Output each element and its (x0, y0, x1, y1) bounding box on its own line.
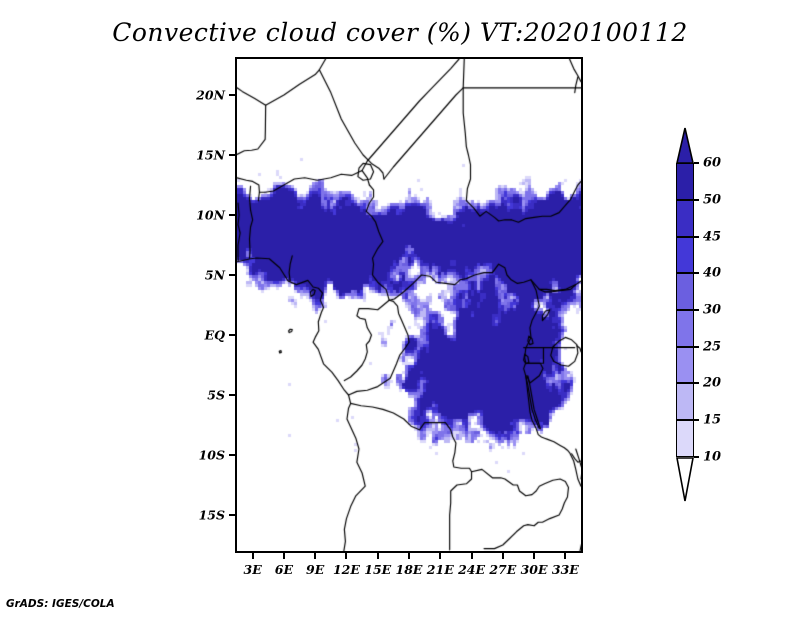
x-axis-tick (564, 553, 566, 559)
x-axis-tick (408, 553, 410, 559)
colorbar-over-arrow (676, 127, 694, 163)
x-axis-tick (471, 553, 473, 559)
x-axis-tick (439, 553, 441, 559)
x-axis-tick (502, 553, 504, 559)
colorbar-band (676, 163, 694, 200)
colorbar-band (676, 310, 694, 347)
colorbar-band (676, 420, 694, 457)
x-axis-tick (283, 553, 285, 559)
y-axis-tick (229, 514, 235, 516)
colorbar-label: 50 (703, 193, 721, 208)
colorbar-label: 60 (703, 156, 721, 171)
colorbar-band (676, 237, 694, 273)
convective-cloud-cover-map (237, 59, 581, 551)
colorbar-tick (694, 162, 699, 164)
y-axis-tick (229, 274, 235, 276)
x-axis-tick (377, 553, 379, 559)
map-plot-frame (235, 57, 583, 553)
x-axis-tick (345, 553, 347, 559)
colorbar: 605045403025201510 (676, 127, 694, 461)
x-axis-tick (252, 553, 254, 559)
y-axis-tick (229, 394, 235, 396)
x-axis-tick (533, 553, 535, 559)
y-axis-tick (229, 334, 235, 336)
y-axis-label: 5N (187, 268, 225, 283)
y-axis-label: 15N (187, 148, 225, 163)
x-axis-tick (314, 553, 316, 559)
colorbar-band (676, 273, 694, 310)
page-title: Convective cloud cover (%) VT:2020100112 (0, 18, 800, 47)
colorbar-band (676, 200, 694, 237)
y-axis-label: 10S (187, 448, 225, 463)
y-axis-tick (229, 94, 235, 96)
colorbar-tick (694, 309, 699, 311)
colorbar-label: 20 (703, 376, 721, 391)
colorbar-band (676, 383, 694, 420)
colorbar-tick (694, 382, 699, 384)
colorbar-label: 45 (703, 230, 721, 245)
footer-credit: GrADS: IGES/COLA (6, 598, 115, 610)
colorbar-label: 10 (703, 450, 721, 465)
colorbar-label: 15 (703, 413, 721, 428)
y-axis-label: 10N (187, 208, 225, 223)
colorbar-tick (694, 272, 699, 274)
colorbar-label: 25 (703, 340, 721, 355)
colorbar-label: 40 (703, 266, 721, 281)
y-axis-tick (229, 454, 235, 456)
colorbar-label: 30 (703, 303, 721, 318)
colorbar-tick (694, 456, 699, 458)
colorbar-tick (694, 199, 699, 201)
y-axis-label: 5S (187, 388, 225, 403)
y-axis-label: 20N (187, 88, 225, 103)
colorbar-tick (694, 346, 699, 348)
y-axis-label: EQ (187, 328, 225, 343)
colorbar-tick (694, 419, 699, 421)
y-axis-label: 15S (187, 508, 225, 523)
x-axis-label: 33E (545, 562, 585, 577)
colorbar-band (676, 347, 694, 383)
y-axis-tick (229, 154, 235, 156)
colorbar-under-arrow (676, 457, 694, 501)
y-axis-tick (229, 214, 235, 216)
grads-plot-page: Convective cloud cover (%) VT:2020100112… (0, 0, 800, 618)
colorbar-tick (694, 236, 699, 238)
